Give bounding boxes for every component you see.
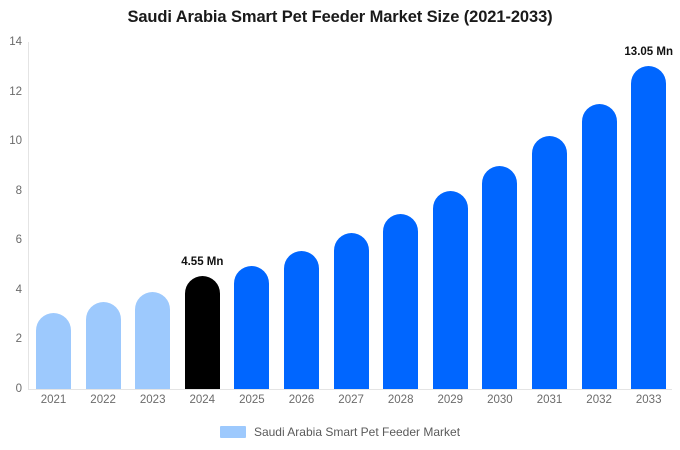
chart-title: Saudi Arabia Smart Pet Feeder Market Siz… [0,8,680,27]
y-axis-tick-label: 6 [0,234,22,246]
x-axis-tick-label: 2032 [582,394,617,406]
plot-area: 4.55 Mn13.05 Mn [29,42,672,389]
bar-group[interactable] [86,42,121,389]
y-axis-tick-label: 8 [0,185,22,197]
x-axis-tick-label: 2029 [433,394,468,406]
bar-2033[interactable] [631,66,666,389]
y-axis-tick-label: 10 [0,135,22,147]
x-axis-tick-label: 2033 [631,394,666,406]
bar-2022[interactable] [86,302,121,389]
bar-2021[interactable] [36,313,71,389]
x-axis-tick-label: 2030 [482,394,517,406]
x-axis-line [28,389,672,390]
y-axis-tick-label: 14 [0,36,22,48]
bar-2029[interactable] [433,191,468,389]
bar-group[interactable] [433,42,468,389]
y-axis-tick-label: 0 [0,383,22,395]
bar-2025[interactable] [234,266,269,389]
bar-group[interactable] [135,42,170,389]
bar-group[interactable] [334,42,369,389]
bar-group[interactable] [36,42,71,389]
x-axis-tick-label: 2031 [532,394,567,406]
legend-label: Saudi Arabia Smart Pet Feeder Market [254,425,460,439]
bar-2024[interactable] [185,276,220,389]
bar-2023[interactable] [135,292,170,389]
bar-2030[interactable] [482,166,517,389]
bar-2028[interactable] [383,214,418,389]
bar-2027[interactable] [334,233,369,389]
chart-legend: Saudi Arabia Smart Pet Feeder Market [0,425,680,439]
bar-value-label-2033: 13.05 Mn [624,46,673,58]
bar-group[interactable] [582,42,617,389]
bar-2026[interactable] [284,251,319,389]
y-axis-tick-label: 4 [0,284,22,296]
legend-swatch-icon [220,426,246,438]
bar-2032[interactable] [582,104,617,389]
y-axis-tick-label: 2 [0,333,22,345]
x-axis-tick-label: 2024 [185,394,220,406]
bar-group[interactable] [482,42,517,389]
bar-value-label-2024: 4.55 Mn [181,256,223,268]
x-axis-tick-label: 2028 [383,394,418,406]
x-axis-tick-label: 2022 [86,394,121,406]
bar-group[interactable]: 4.55 Mn [185,42,220,389]
x-axis-tick-label: 2027 [334,394,369,406]
bar-2031[interactable] [532,136,567,389]
x-axis-tick-label: 2026 [284,394,319,406]
bar-group[interactable] [234,42,269,389]
x-axis-tick-label: 2021 [36,394,71,406]
x-axis-tick-label: 2025 [234,394,269,406]
bar-group[interactable] [532,42,567,389]
bar-group[interactable] [284,42,319,389]
bar-chart: Saudi Arabia Smart Pet Feeder Market Siz… [0,0,680,450]
y-axis-tick-label: 12 [0,86,22,98]
bar-group[interactable] [383,42,418,389]
bar-group[interactable]: 13.05 Mn [631,42,666,389]
x-axis-tick-label: 2023 [135,394,170,406]
